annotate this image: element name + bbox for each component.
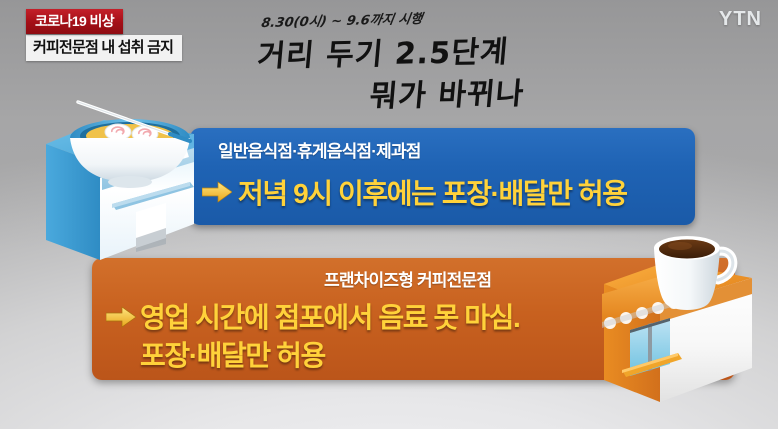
ytn-logo: YTN xyxy=(719,8,762,31)
headline-line-2: 뭐가 바뀌나 xyxy=(368,69,527,116)
banner-restaurants-main: 저녁 9시 이후에는 포장·배달만 허용 xyxy=(238,172,627,212)
banner-restaurants: 일반음식점·휴게음식점·제과점 저녁 9시 이후에는 포장·배달만 허용 xyxy=(190,128,695,225)
caption-red-badge: 코로나19 비상 xyxy=(26,9,123,34)
banner-coffee-main-line-1: 영업 시간에 점포에서 음료 못 마심. xyxy=(140,296,519,336)
caption-white-bar: 커피전문점 내 섭취 금지 xyxy=(26,35,182,61)
banner-coffee-subtitle: 프랜차이즈형 커피전문점 xyxy=(324,266,491,291)
caption-block: 코로나19 비상 커피전문점 내 섭취 금지 xyxy=(26,9,182,61)
arrow-right-icon xyxy=(106,306,136,328)
headline-date-range: 8.30(0시) ~ 9.6까지 시행 xyxy=(260,8,424,31)
banner-coffee-main-line-2: 포장·배달만 허용 xyxy=(140,334,325,374)
noodle-bowl-restaurant-icon xyxy=(44,72,220,262)
headline-line-1: 거리 두기 2.5단계 xyxy=(256,27,511,75)
news-graphic-screen: 코로나19 비상 커피전문점 내 섭취 금지 YTN 8.30(0시) ~ 9.… xyxy=(0,0,778,429)
banner-restaurants-subtitle: 일반음식점·휴게음식점·제과점 xyxy=(218,137,421,162)
coffee-cup-shop-icon xyxy=(600,222,778,404)
